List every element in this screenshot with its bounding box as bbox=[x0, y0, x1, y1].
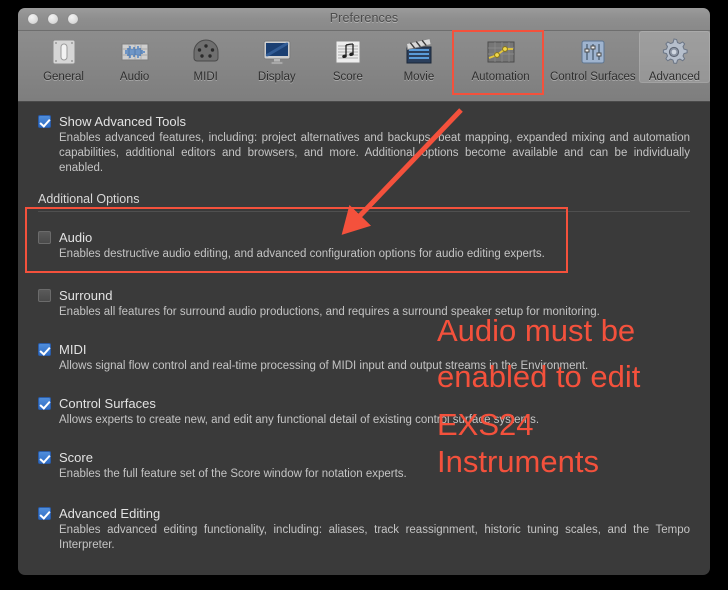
option-row-advanced-editing: Advanced Editing Enables advanced editin… bbox=[38, 506, 690, 553]
row-header: Control Surfaces bbox=[38, 396, 690, 411]
general-switch-icon bbox=[47, 35, 81, 69]
option-row-show-advanced-tools: Show Advanced Tools Enables advanced fea… bbox=[38, 114, 690, 176]
tab-control-surfaces-label: Control Surfaces bbox=[550, 71, 636, 83]
tab-advanced[interactable]: Advanced bbox=[639, 31, 710, 83]
tab-display-label: Display bbox=[258, 71, 296, 83]
row-header: Audio bbox=[38, 230, 690, 245]
tab-audio[interactable]: Audio bbox=[99, 31, 170, 83]
tab-general[interactable]: General bbox=[28, 31, 99, 83]
midi-din-connector-icon bbox=[189, 35, 223, 69]
tab-movie-label: Movie bbox=[404, 71, 435, 83]
description-show-advanced-tools: Enables advanced features, including: pr… bbox=[59, 131, 690, 176]
control-surfaces-faders-icon bbox=[576, 35, 610, 69]
label-surround: Surround bbox=[59, 288, 112, 303]
label-midi: MIDI bbox=[59, 342, 86, 357]
section-divider bbox=[38, 211, 690, 212]
description-midi: Allows signal flow control and real-time… bbox=[59, 359, 690, 374]
checkbox-score[interactable] bbox=[38, 451, 51, 464]
option-row-score: Score Enables the full feature set of th… bbox=[38, 450, 690, 482]
row-header: MIDI bbox=[38, 342, 690, 357]
checkbox-advanced-editing[interactable] bbox=[38, 507, 51, 520]
description-audio: Enables destructive audio editing, and a… bbox=[59, 247, 690, 262]
label-score: Score bbox=[59, 450, 93, 465]
description-surround: Enables all features for surround audio … bbox=[59, 305, 690, 320]
row-header: Advanced Editing bbox=[38, 506, 690, 521]
tab-general-label: General bbox=[43, 71, 84, 83]
checkbox-midi[interactable] bbox=[38, 343, 51, 356]
row-header: Score bbox=[38, 450, 690, 465]
audio-waveform-icon bbox=[118, 35, 152, 69]
advanced-gear-icon bbox=[657, 35, 691, 69]
row-header: Show Advanced Tools bbox=[38, 114, 690, 129]
preferences-window: Preferences General bbox=[18, 8, 710, 575]
checkbox-control-surfaces[interactable] bbox=[38, 397, 51, 410]
window-title: Preferences bbox=[18, 11, 710, 25]
tab-movie[interactable]: Movie bbox=[383, 31, 454, 83]
checkbox-surround[interactable] bbox=[38, 289, 51, 302]
option-row-control-surfaces: Control Surfaces Allows experts to creat… bbox=[38, 396, 690, 428]
advanced-preferences-pane: Show Advanced Tools Enables advanced fea… bbox=[18, 102, 710, 575]
tab-audio-label: Audio bbox=[120, 71, 149, 83]
tab-midi[interactable]: MIDI bbox=[170, 31, 241, 83]
tab-advanced-label: Advanced bbox=[649, 71, 700, 83]
screenshot-root: Preferences General bbox=[0, 0, 728, 590]
movie-clapperboard-icon bbox=[402, 35, 436, 69]
label-show-advanced-tools: Show Advanced Tools bbox=[59, 114, 186, 129]
preferences-toolbar: General Audio bbox=[18, 31, 710, 102]
option-row-surround: Surround Enables all features for surrou… bbox=[38, 288, 690, 320]
window-titlebar: Preferences bbox=[18, 8, 710, 31]
tab-control-surfaces[interactable]: Control Surfaces bbox=[547, 31, 639, 83]
label-control-surfaces: Control Surfaces bbox=[59, 396, 156, 411]
option-row-audio: Audio Enables destructive audio editing,… bbox=[38, 230, 690, 262]
tab-automation-label: Automation bbox=[471, 71, 529, 83]
tab-midi-label: MIDI bbox=[194, 71, 218, 83]
tab-automation[interactable]: Automation bbox=[454, 31, 546, 83]
section-label-additional-options: Additional Options bbox=[38, 192, 690, 206]
score-notes-icon bbox=[331, 35, 365, 69]
tab-score-label: Score bbox=[333, 71, 363, 83]
description-advanced-editing: Enables advanced editing functionality, … bbox=[59, 523, 690, 553]
label-advanced-editing: Advanced Editing bbox=[59, 506, 160, 521]
display-monitor-icon bbox=[260, 35, 294, 69]
automation-curve-icon bbox=[484, 35, 518, 69]
checkbox-show-advanced-tools[interactable] bbox=[38, 115, 51, 128]
checkbox-audio[interactable] bbox=[38, 231, 51, 244]
option-row-midi: MIDI Allows signal flow control and real… bbox=[38, 342, 690, 374]
label-audio: Audio bbox=[59, 230, 92, 245]
row-header: Surround bbox=[38, 288, 690, 303]
description-score: Enables the full feature set of the Scor… bbox=[59, 467, 690, 482]
description-control-surfaces: Allows experts to create new, and edit a… bbox=[59, 413, 690, 428]
tab-display[interactable]: Display bbox=[241, 31, 312, 83]
tab-score[interactable]: Score bbox=[312, 31, 383, 83]
